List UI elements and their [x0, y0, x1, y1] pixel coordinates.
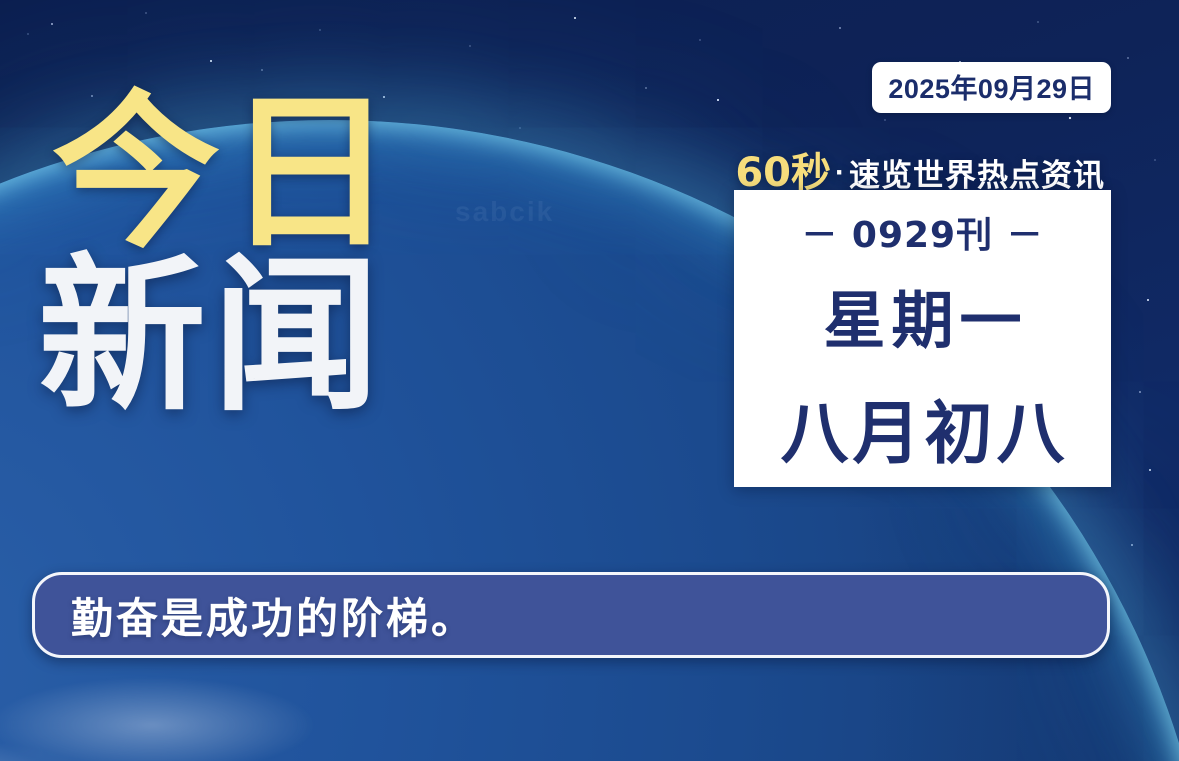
page-title-line-1: 今日	[52, 96, 400, 251]
lunar-date-label: 八月初八	[776, 378, 1068, 477]
issue-number: － 0929刊 －	[801, 206, 1043, 258]
tagline-separator: ·	[835, 156, 845, 189]
issue-info-card: － 0929刊 － 星期一 八月初八	[734, 190, 1111, 487]
quote-bar: 勤奋是成功的阶梯。	[32, 572, 1110, 658]
page-title: 今日 新闻	[52, 96, 400, 413]
date-badge: 2025年09月29日	[872, 62, 1111, 113]
quote-text: 勤奋是成功的阶梯。	[35, 585, 476, 646]
tagline-text: 速览世界热点资讯	[849, 158, 1105, 193]
page-title-line-2: 新闻	[38, 259, 400, 414]
weekday-label: 星期一	[817, 270, 1027, 360]
news-poster: sabcik 今日 新闻 2025年09月29日 60秒·速览世界热点资讯 － …	[0, 0, 1179, 761]
